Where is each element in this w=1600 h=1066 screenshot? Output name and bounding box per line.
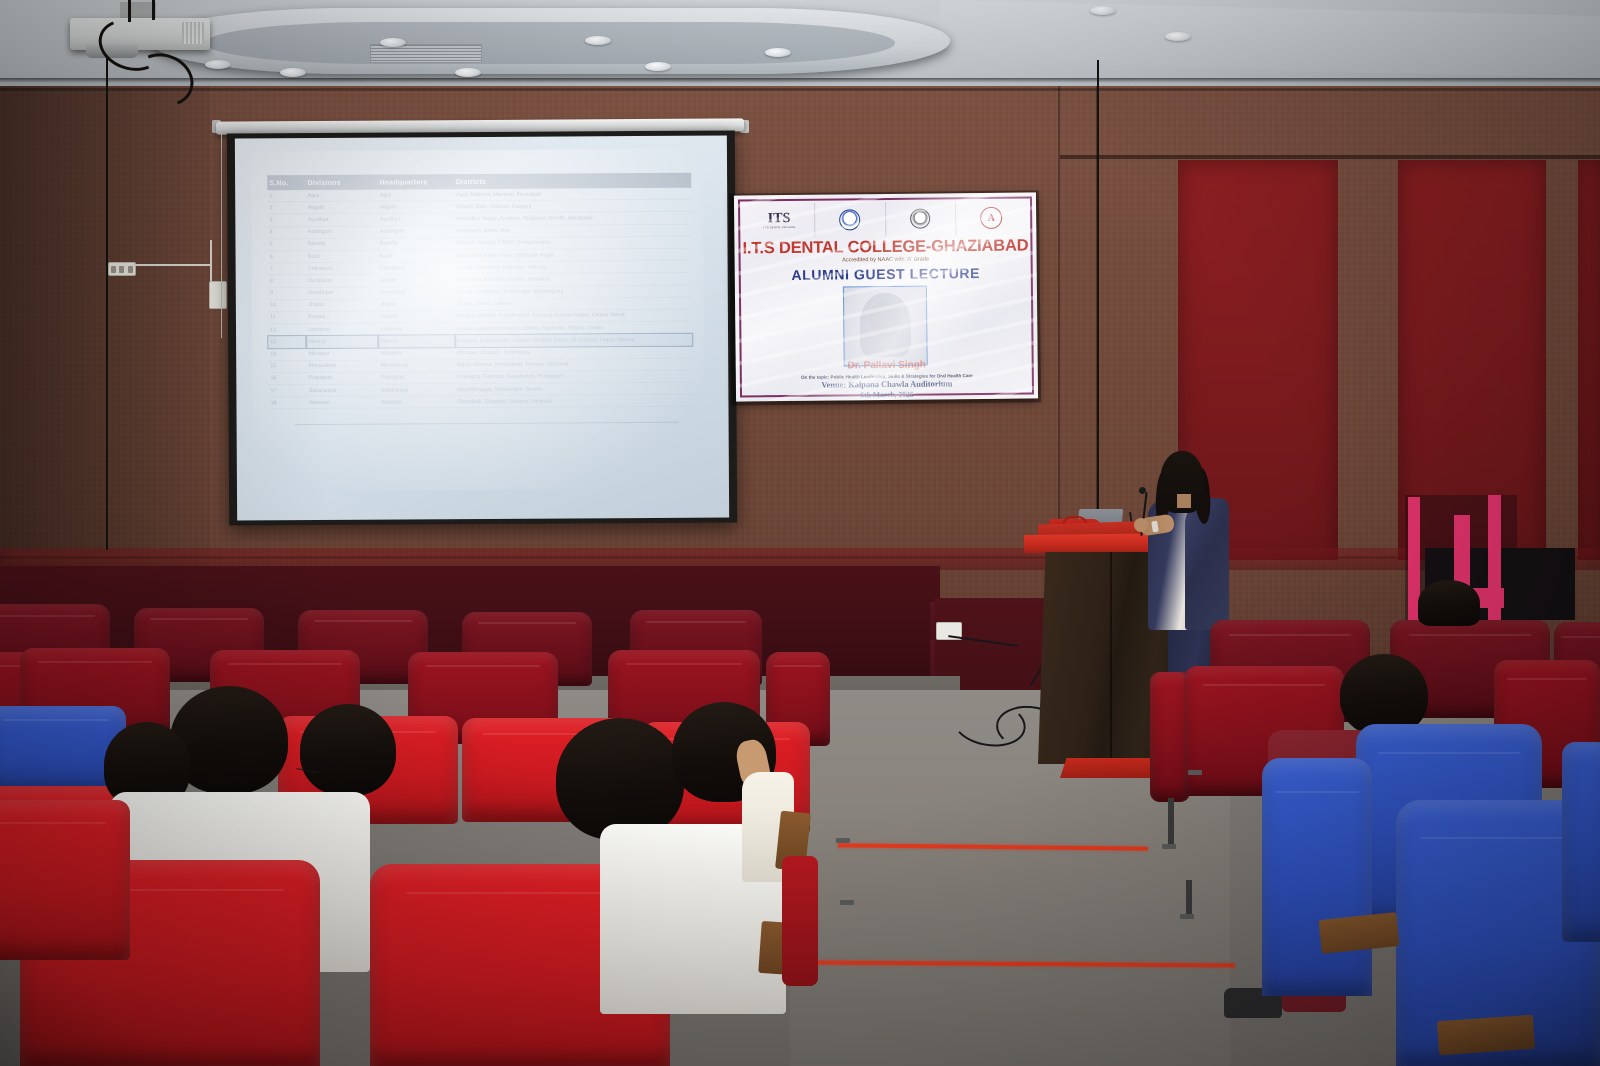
table-cell: 7 bbox=[268, 263, 306, 275]
writing-tablet bbox=[1437, 1015, 1535, 1056]
ceiling-edge-shadow bbox=[0, 78, 1600, 83]
speaker-neck bbox=[1177, 494, 1191, 508]
dental-council-logo-icon bbox=[886, 201, 957, 236]
downlight-icon bbox=[645, 62, 671, 71]
table-cell: Ayodhya bbox=[378, 213, 454, 226]
table-cell: Meerut bbox=[378, 335, 454, 348]
seat-foot bbox=[1188, 770, 1202, 775]
table-cell: Mirzapur bbox=[379, 347, 455, 360]
table-cell: Ayodhya bbox=[306, 213, 378, 226]
table-cell: Mirzapur bbox=[306, 348, 378, 361]
table-cell: 16 bbox=[268, 372, 306, 384]
auditorium-photo: S.No. Divisions Headquarters Districts 1… bbox=[0, 0, 1600, 1066]
table-cell: Jhansi bbox=[378, 298, 454, 311]
table-cell: 6 bbox=[268, 251, 306, 263]
audience-head bbox=[556, 718, 684, 840]
wall-panel-3 bbox=[1578, 160, 1600, 560]
seat-foot bbox=[836, 838, 850, 843]
downlight-icon bbox=[1090, 6, 1116, 15]
seat-blue[interactable] bbox=[1262, 758, 1372, 996]
table-cell: 1 bbox=[267, 190, 305, 202]
table-cell: Chandauli, Ghazipur, Jaunpur, Varanasi bbox=[455, 394, 693, 408]
table-cell: Prayagraj bbox=[379, 371, 455, 384]
table-cell: Kanpur bbox=[306, 311, 378, 324]
table-cell: 2 bbox=[267, 202, 305, 214]
socket-wire-horizontal bbox=[134, 264, 210, 266]
table-cell: 8 bbox=[268, 275, 306, 287]
table-cell: 15 bbox=[268, 360, 306, 372]
seat-foot bbox=[840, 900, 854, 905]
column-header-sno: S.No. bbox=[267, 175, 305, 190]
audience-head bbox=[300, 704, 396, 796]
downlight-icon bbox=[380, 38, 406, 47]
wall-horizontal-band bbox=[1060, 155, 1600, 159]
table-cell: Basti bbox=[306, 250, 378, 263]
table-cell: Azamgarh bbox=[306, 226, 378, 239]
armrest bbox=[782, 856, 818, 986]
seat-foot bbox=[1162, 844, 1176, 849]
table-cell: Gorakhpur bbox=[378, 286, 454, 299]
seat-leg bbox=[1168, 798, 1174, 846]
table-cell: 12 bbox=[268, 324, 306, 336]
banner-date: 6th March, 2025 bbox=[736, 388, 1038, 400]
table-cell: Devipatan bbox=[306, 274, 378, 287]
screen-pull-cord[interactable] bbox=[221, 133, 222, 338]
table-cell: 4 bbox=[268, 226, 306, 238]
table-cell: Bareilly bbox=[306, 238, 378, 251]
column-header-headquarters: Headquarters bbox=[377, 174, 453, 189]
table-cell: Moradabad bbox=[307, 360, 379, 373]
table-cell: Varanasi bbox=[307, 396, 379, 409]
table-cell: 5 bbox=[268, 238, 306, 250]
column-header-districts: Districts bbox=[454, 173, 692, 189]
wall-seam-top bbox=[0, 88, 1600, 91]
seat-foot bbox=[1180, 914, 1194, 919]
table-cell: 14 bbox=[268, 348, 306, 360]
seat[interactable] bbox=[0, 800, 130, 960]
its-dental-college-logo-icon: ITS I.T.S DENTAL COLLEGE bbox=[744, 203, 815, 238]
table-cell: Aligarh bbox=[378, 201, 454, 214]
projector-vent-icon bbox=[182, 22, 204, 44]
table-cell: Prayagraj bbox=[307, 372, 379, 385]
seat-leg bbox=[1186, 880, 1192, 916]
table-row: 18VaranasiVaranasiChandauli, Ghazipur, J… bbox=[269, 394, 693, 409]
table-cell: Varanasi bbox=[379, 396, 455, 409]
downlight-icon bbox=[280, 68, 306, 77]
downlight-icon bbox=[455, 68, 481, 77]
table-body: 1AgraAgraAgra, Mathura, Mainpuri, Firoza… bbox=[267, 188, 692, 409]
table-cell: Kanpur bbox=[378, 311, 454, 324]
table-cell: 3 bbox=[267, 214, 305, 226]
wall-cable-left bbox=[106, 58, 108, 550]
table-cell: Lucknow bbox=[306, 323, 378, 336]
table-cell: Saharanpur bbox=[379, 384, 455, 397]
event-banner: ITS I.T.S DENTAL COLLEGE A I.T.S DENTAL … bbox=[734, 192, 1038, 401]
downlight-icon bbox=[765, 48, 791, 57]
table-cell: Gorakhpur bbox=[306, 287, 378, 300]
column-header-divisions: Divisions bbox=[305, 175, 377, 190]
table-cell: 9 bbox=[268, 287, 306, 299]
table-cell: Lucknow bbox=[378, 323, 454, 336]
table-cell: Agra bbox=[305, 190, 377, 202]
wall-socket[interactable] bbox=[108, 262, 136, 276]
naac-grade-logo-icon: A bbox=[956, 201, 1026, 236]
table-cell: Agra bbox=[378, 189, 454, 201]
seat-blue[interactable] bbox=[1562, 742, 1600, 942]
downlight-icon bbox=[1165, 32, 1191, 41]
table-cell: 10 bbox=[268, 299, 306, 311]
socket-wire-vertical bbox=[210, 240, 212, 282]
table-cell: Saharanpur bbox=[307, 384, 379, 397]
wall-seam-vertical-b bbox=[1058, 60, 1060, 580]
table-cell: Chitrakoot bbox=[378, 262, 454, 275]
ceiling-soffit-inner bbox=[205, 22, 895, 64]
table-cell: Basti bbox=[378, 250, 454, 263]
podium-edge bbox=[1110, 552, 1112, 764]
table-cell: 11 bbox=[268, 311, 306, 323]
speaker-photo bbox=[843, 286, 928, 367]
table-cell: Moradabad bbox=[379, 359, 455, 372]
speaker-hand bbox=[1134, 518, 1148, 532]
table-cell: Gonda bbox=[378, 274, 454, 287]
table-cell: Jhansi bbox=[306, 299, 378, 312]
wall-left-shadow bbox=[0, 60, 210, 580]
power-adapter bbox=[209, 281, 227, 309]
downlight-icon bbox=[585, 36, 611, 45]
table-cell: Azamgarh bbox=[378, 225, 454, 238]
table-cell: Bareilly bbox=[378, 237, 454, 250]
table-cell: Chitrakoot bbox=[306, 262, 378, 275]
wall-cable-right bbox=[1097, 60, 1099, 560]
university-seal-logo-icon bbox=[815, 202, 886, 237]
table-cell: 18 bbox=[269, 397, 307, 409]
table-cell: Meerut bbox=[306, 335, 378, 348]
table-cell: 17 bbox=[269, 385, 307, 397]
audience-head bbox=[1418, 580, 1480, 626]
projector-cable bbox=[152, 0, 155, 20]
divisions-table: S.No. Divisions Headquarters Districts 1… bbox=[267, 173, 692, 410]
air-conditioning-vent-icon bbox=[370, 44, 482, 63]
table-cell: 13 bbox=[268, 336, 306, 348]
banner-event-title: ALUMNI GUEST LECTURE bbox=[735, 264, 1037, 283]
downlight-icon bbox=[205, 60, 231, 69]
table-cell: Aligarh bbox=[306, 201, 378, 214]
banner-logo-row: ITS I.T.S DENTAL COLLEGE A bbox=[744, 201, 1026, 238]
slide-content: S.No. Divisions Headquarters Districts 1… bbox=[267, 173, 693, 428]
microphone-icon bbox=[1139, 487, 1146, 494]
slide-bottom-rule bbox=[295, 422, 679, 425]
